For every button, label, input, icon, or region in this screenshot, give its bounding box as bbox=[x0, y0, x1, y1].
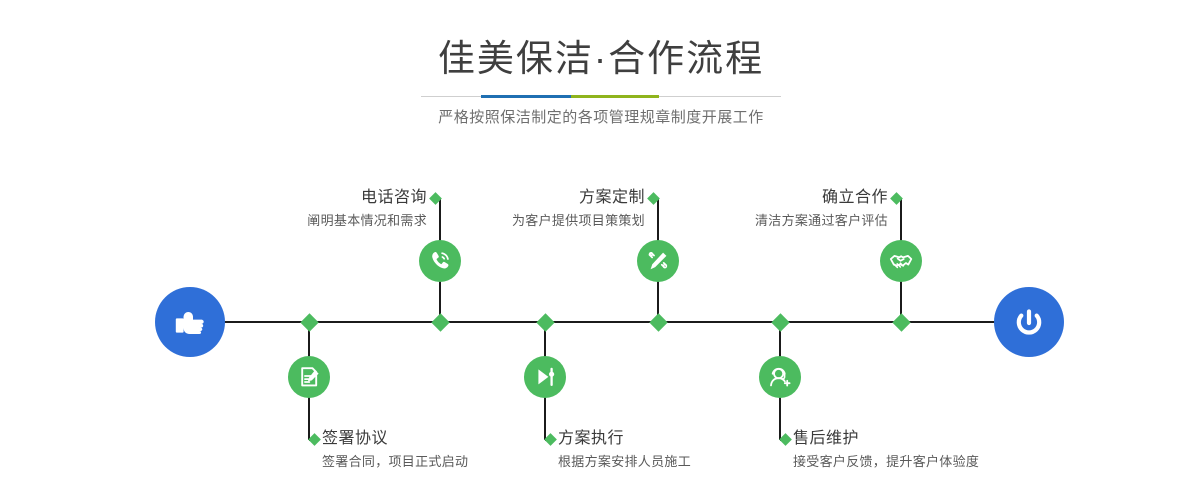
page-title: 佳美保洁·合作流程 bbox=[0, 36, 1202, 82]
step-connector-horizontal bbox=[435, 198, 440, 200]
page-subtitle: 严格按照保洁制定的各项管理规章制度开展工作 bbox=[0, 107, 1202, 129]
headset-support-icon bbox=[767, 364, 793, 390]
timeline-start-node[interactable] bbox=[155, 287, 225, 357]
step-icon-document-sign-icon[interactable] bbox=[288, 356, 330, 398]
flow-diagram-page: 佳美保洁·合作流程 严格按照保洁制定的各项管理规章制度开展工作 bbox=[0, 0, 1202, 502]
step-subtitle: 签署合同，项目正式启动 bbox=[322, 452, 468, 472]
step-connector-horizontal bbox=[545, 439, 550, 441]
step-label-3: 方案定制为客户提供项目策策划 bbox=[512, 187, 645, 231]
step-title: 签署协议 bbox=[322, 428, 468, 450]
step-title: 售后维护 bbox=[793, 428, 979, 450]
step-connector-horizontal bbox=[780, 439, 785, 441]
step-connector-horizontal bbox=[896, 198, 901, 200]
step-title: 方案定制 bbox=[512, 187, 645, 209]
step-label-2: 签署协议签署合同，项目正式启动 bbox=[322, 428, 468, 472]
pencil-ruler-icon bbox=[645, 248, 671, 274]
step-title: 方案执行 bbox=[558, 428, 691, 450]
timeline-end-node[interactable] bbox=[994, 287, 1064, 357]
step-title: 电话咨询 bbox=[307, 187, 427, 209]
step-connector-horizontal bbox=[653, 198, 658, 200]
phone-call-icon bbox=[427, 248, 453, 274]
step-label-marker bbox=[890, 192, 903, 205]
title-divider bbox=[421, 95, 781, 99]
step-icon-handshake-icon[interactable] bbox=[880, 240, 922, 282]
step-icon-headset-support-icon[interactable] bbox=[759, 356, 801, 398]
step-label-marker bbox=[779, 433, 792, 446]
step-subtitle: 阐明基本情况和需求 bbox=[307, 211, 427, 231]
step-icon-pencil-ruler-icon[interactable] bbox=[637, 240, 679, 282]
play-execute-icon bbox=[532, 364, 558, 390]
step-subtitle: 根据方案安排人员施工 bbox=[558, 452, 691, 472]
timeline-axis bbox=[186, 321, 1029, 323]
handshake-icon bbox=[888, 248, 914, 274]
step-subtitle: 为客户提供项目策策划 bbox=[512, 211, 645, 231]
document-sign-icon bbox=[296, 364, 322, 390]
step-icon-phone-call-icon[interactable] bbox=[419, 240, 461, 282]
step-subtitle: 清洁方案通过客户评估 bbox=[755, 211, 888, 231]
pointing-hand-icon bbox=[170, 302, 210, 342]
divider-segment-green bbox=[571, 95, 659, 98]
step-label-6: 售后维护接受客户反馈，提升客户体验度 bbox=[793, 428, 979, 472]
power-icon bbox=[1009, 302, 1049, 342]
step-label-marker bbox=[647, 192, 660, 205]
step-subtitle: 接受客户反馈，提升客户体验度 bbox=[793, 452, 979, 472]
step-label-1: 电话咨询阐明基本情况和需求 bbox=[307, 187, 427, 231]
step-label-4: 方案执行根据方案安排人员施工 bbox=[558, 428, 691, 472]
step-label-marker bbox=[308, 433, 321, 446]
step-label-marker bbox=[429, 192, 442, 205]
step-label-5: 确立合作清洁方案通过客户评估 bbox=[755, 187, 888, 231]
divider-segment-blue bbox=[481, 95, 571, 98]
step-label-marker bbox=[544, 433, 557, 446]
step-icon-play-execute-icon[interactable] bbox=[524, 356, 566, 398]
step-title: 确立合作 bbox=[755, 187, 888, 209]
step-connector-horizontal bbox=[309, 439, 314, 441]
